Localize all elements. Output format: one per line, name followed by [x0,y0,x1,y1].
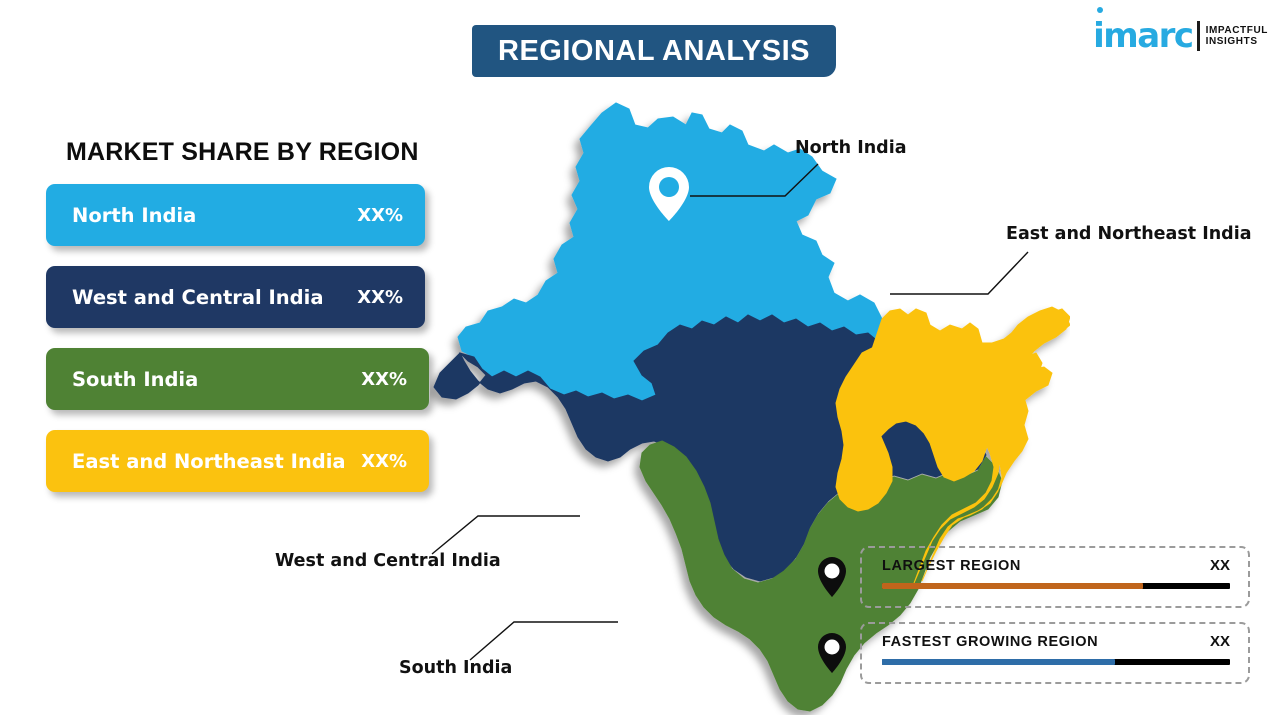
leader-line-east-and-northeast-india [890,248,1030,298]
legend-item-south-india[interactable]: South India XX% [46,348,429,410]
map-callout-north-india: North India [795,138,907,158]
logo-wordmark: imarc [1093,19,1192,53]
stat-box: LARGEST REGION XX [860,546,1250,608]
legend-item-value: XX% [361,369,407,390]
stat-row: LARGEST REGION XX [882,557,1230,574]
page-title-banner: REGIONAL ANALYSIS [472,25,836,77]
stat-value: XX [1210,557,1230,574]
logo-divider [1197,21,1200,51]
location-pin-icon [816,632,848,674]
stat-progress-fill [882,659,1115,665]
legend-item-label: East and Northeast India [72,450,346,473]
legend-item-value: XX% [357,287,403,308]
stat-progress-track [882,583,1230,589]
imarc-logo: imarc IMPACTFUL INSIGHTS [1093,14,1268,58]
legend-item-label: West and Central India [72,286,323,309]
legend-heading: MARKET SHARE BY REGION [66,138,419,167]
page-title: REGIONAL ANALYSIS [498,35,810,68]
location-pin-icon [816,556,848,598]
legend-item-east-and-northeast-india[interactable]: East and Northeast India XX% [46,430,429,492]
stat-value: XX [1210,633,1230,650]
legend-item-label: South India [72,368,198,391]
stat-label: LARGEST REGION [882,558,1021,574]
leader-line-south-india [470,618,620,663]
slide-canvas: REGIONAL ANALYSIS imarc IMPACTFUL INSIGH… [0,0,1280,720]
logo-dot-icon [1097,7,1103,13]
stat-label: FASTEST GROWING REGION [882,634,1098,650]
map-callout-west-and-central-india: West and Central India [275,551,501,571]
stat-largest-region[interactable]: LARGEST REGION XX [816,546,1250,608]
legend-item-value: XX% [361,451,407,472]
logo-tagline: IMPACTFUL INSIGHTS [1206,25,1268,48]
legend-item-value: XX% [357,205,403,226]
legend-item-north-india[interactable]: North India XX% [46,184,425,246]
stat-box: FASTEST GROWING REGION XX [860,622,1250,684]
legend-item-west-and-central-india[interactable]: West and Central India XX% [46,266,425,328]
legend-list: North India XX% West and Central India X… [46,184,436,512]
logo-tagline-line1: IMPACTFUL [1206,25,1268,37]
map-callout-south-india: South India [399,658,512,678]
stat-progress-fill [882,583,1143,589]
logo-tagline-line2: INSIGHTS [1206,36,1268,48]
stat-progress-track [882,659,1230,665]
leader-line-north-india [690,160,820,205]
legend-item-label: North India [72,204,196,227]
stat-row: FASTEST GROWING REGION XX [882,633,1230,650]
map-callout-east-and-northeast-india: East and Northeast India [1006,224,1252,244]
stat-fastest-growing-region[interactable]: FASTEST GROWING REGION XX [816,622,1250,684]
